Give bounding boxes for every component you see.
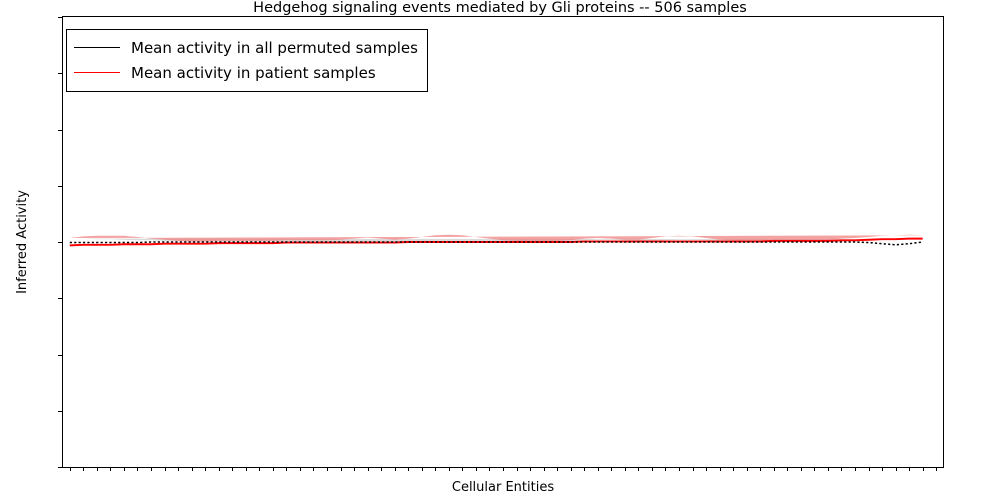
x-axis-tick-mark xyxy=(259,467,260,471)
legend-entry-permuted: Mean activity in all permuted samples xyxy=(74,35,418,60)
x-axis-tick-mark xyxy=(896,467,897,471)
y-axis-tick-mark xyxy=(58,130,62,131)
x-axis-tick-mark xyxy=(232,467,233,471)
x-axis-tick-mark xyxy=(435,467,436,471)
x-axis-tick-mark xyxy=(625,467,626,471)
x-axis-tick-mark xyxy=(110,467,111,471)
x-axis-tick-mark xyxy=(720,467,721,471)
y-axis-tick-mark xyxy=(58,73,62,74)
x-axis-tick-mark xyxy=(327,467,328,471)
x-axis-tick-mark xyxy=(693,467,694,471)
x-axis-tick-mark xyxy=(246,467,247,471)
x-axis-tick-mark xyxy=(909,467,910,471)
x-axis-tick-mark xyxy=(137,467,138,471)
chart-title: Hedgehog signaling events mediated by Gl… xyxy=(0,0,1000,16)
x-axis-tick-mark xyxy=(449,467,450,471)
x-axis-tick-mark xyxy=(828,467,829,471)
x-axis-tick-mark xyxy=(205,467,206,471)
chart-legend: Mean activity in all permuted samples Me… xyxy=(66,29,428,92)
x-axis-tick-mark xyxy=(598,467,599,471)
x-axis-tick-mark xyxy=(97,467,98,471)
y-axis-tick-mark xyxy=(58,411,62,412)
y-axis-tick-mark xyxy=(58,242,62,243)
legend-swatch-permuted xyxy=(74,47,120,48)
legend-swatch-patient xyxy=(74,72,120,73)
y-axis-tick-mark xyxy=(58,298,62,299)
x-axis-tick-mark xyxy=(923,467,924,471)
y-axis-label: Inferred Activity xyxy=(15,190,30,294)
chart-figure: Hedgehog signaling events mediated by Gl… xyxy=(0,0,1000,500)
x-axis-tick-mark xyxy=(611,467,612,471)
x-axis-tick-mark xyxy=(354,467,355,471)
x-axis-tick-mark xyxy=(368,467,369,471)
x-axis-tick-mark xyxy=(936,467,937,471)
x-axis-tick-mark xyxy=(801,467,802,471)
x-axis-tick-mark xyxy=(83,467,84,471)
y-axis-tick-mark xyxy=(58,467,62,468)
x-axis-tick-mark xyxy=(814,467,815,471)
x-axis-tick-mark xyxy=(747,467,748,471)
x-axis-tick-mark xyxy=(341,467,342,471)
legend-entry-patient: Mean activity in patient samples xyxy=(74,60,418,85)
x-axis-tick-mark xyxy=(192,467,193,471)
x-axis-tick-mark xyxy=(855,467,856,471)
x-axis-tick-mark xyxy=(381,467,382,471)
x-axis-tick-mark xyxy=(273,467,274,471)
x-axis-tick-mark xyxy=(503,467,504,471)
x-axis-tick-mark xyxy=(584,467,585,471)
x-axis-tick-mark xyxy=(124,467,125,471)
x-axis-tick-mark xyxy=(841,467,842,471)
x-axis-tick-mark xyxy=(530,467,531,471)
legend-label-patient: Mean activity in patient samples xyxy=(131,64,376,82)
x-axis-tick-mark xyxy=(544,467,545,471)
x-axis-tick-mark xyxy=(571,467,572,471)
y-axis-tick-mark xyxy=(58,355,62,356)
x-axis-tick-mark xyxy=(869,467,870,471)
x-axis-tick-mark xyxy=(286,467,287,471)
x-axis-tick-mark xyxy=(489,467,490,471)
x-axis-tick-mark xyxy=(462,467,463,471)
x-axis-tick-mark xyxy=(882,467,883,471)
x-axis-tick-mark xyxy=(151,467,152,471)
x-axis-tick-mark xyxy=(638,467,639,471)
x-axis-label: Cellular Entities xyxy=(62,480,944,495)
x-axis-tick-mark xyxy=(408,467,409,471)
x-axis-tick-mark xyxy=(165,467,166,471)
x-axis-tick-mark xyxy=(313,467,314,471)
x-axis-tick-mark xyxy=(219,467,220,471)
x-axis-tick-mark xyxy=(774,467,775,471)
x-axis-tick-mark xyxy=(665,467,666,471)
x-axis-tick-mark xyxy=(679,467,680,471)
x-axis-tick-mark xyxy=(652,467,653,471)
x-axis-tick-mark xyxy=(787,467,788,471)
x-axis-tick-mark xyxy=(300,467,301,471)
y-axis-tick-mark xyxy=(58,186,62,187)
x-axis-tick-mark xyxy=(760,467,761,471)
x-axis-tick-mark xyxy=(395,467,396,471)
legend-label-permuted: Mean activity in all permuted samples xyxy=(131,39,418,57)
y-axis-tick-mark xyxy=(58,17,62,18)
x-axis-tick-mark xyxy=(178,467,179,471)
x-axis-tick-mark xyxy=(706,467,707,471)
x-axis-tick-mark xyxy=(557,467,558,471)
x-axis-tick-mark xyxy=(476,467,477,471)
x-axis-tick-mark xyxy=(70,467,71,471)
x-axis-tick-mark xyxy=(517,467,518,471)
x-axis-tick-mark xyxy=(733,467,734,471)
x-axis-tick-mark xyxy=(422,467,423,471)
